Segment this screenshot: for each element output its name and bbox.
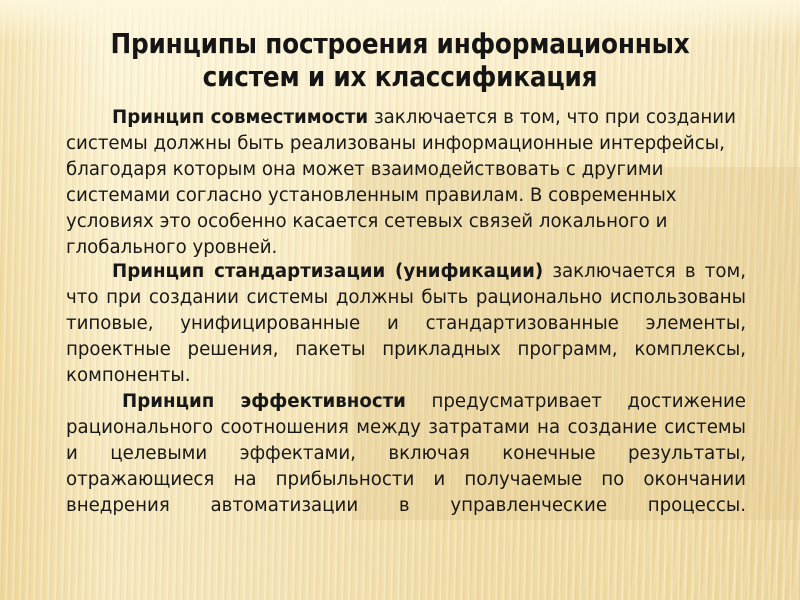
paragraph-princip-effektivnosti: Принцип эффективности предусматривает до…	[66, 389, 746, 545]
paragraph-princip-sovmestimosti: Принцип совместимости заключается в том,…	[66, 105, 746, 261]
paragraph-lead-princip-sovmestimosti: Принцип совместимости	[112, 107, 368, 128]
paragraph-lead-princip-effektivnosti: Принцип эффективности	[122, 391, 406, 412]
paragraph-body-princip-sovmestimosti: заключается в том, что при создании сист…	[66, 107, 736, 258]
paragraph-lead-princip-standartizacii: Принцип стандартизации (унификации)	[112, 261, 543, 282]
slide-title: Принципы построения информационных систе…	[58, 28, 742, 94]
presentation-slide: Принципы построения информационных систе…	[0, 0, 800, 600]
